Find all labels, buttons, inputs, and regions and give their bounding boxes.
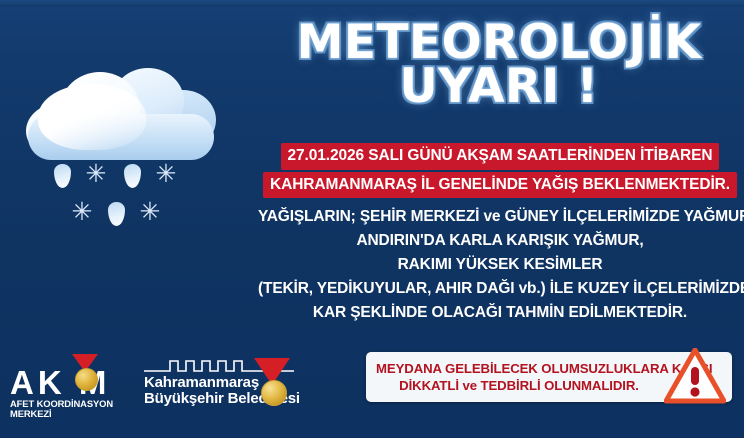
meteorological-warning-poster: ✳ ✳ ✳ ✳ METEOROLOJİK UYARI ! 27.01.2026 …	[0, 0, 744, 438]
caution-banner: MEYDANA GELEBİLECEK OLUMSUZLUKLARA KARŞI…	[366, 352, 732, 402]
precipitation-group: ✳ ✳ ✳ ✳	[46, 162, 226, 244]
snowflake-icon: ✳	[84, 162, 108, 186]
cloud-icon	[26, 68, 216, 160]
municipality-logo: Kahramanmaraş Büyükşehir Belediyesi	[144, 352, 304, 416]
alert-highlight-line2: KAHRAMANMARAŞ İL GENELİNDE YAĞIŞ BEKLENM…	[263, 172, 737, 199]
municipality-emblem-icon	[254, 358, 290, 410]
forecast-line: ANDIRIN'DA KARLA KARIŞIK YAĞMUR,	[258, 229, 742, 253]
alert-highlight-row: 27.01.2026 SALI GÜNÜ AKŞAM SAATLERİNDEN …	[262, 143, 738, 170]
weather-illustration: ✳ ✳ ✳ ✳	[18, 62, 264, 246]
forecast-line: (TEKİR, YEDİKUYULAR, AHIR DAĞI vb.) İLE …	[258, 277, 742, 301]
caution-line: DİKKATLİ ve TEDBİRLİ OLUNMALIDIR.	[376, 377, 662, 394]
raindrop-icon	[108, 202, 125, 226]
akom-logo: AK M AFET KOORDİNASYON MERKEZİ	[10, 352, 134, 414]
caution-banner-text: MEYDANA GELEBİLECEK OLUMSUZLUKLARA KARŞI…	[376, 360, 662, 394]
akom-emblem-icon	[72, 354, 98, 398]
gold-medal-icon	[75, 368, 98, 391]
cloud-highlight	[38, 84, 146, 150]
raindrop-icon	[124, 164, 141, 188]
municipality-name-line1: Kahramanmaraş	[144, 375, 259, 391]
forecast-line: YAĞIŞLARIN; ŞEHİR MERKEZİ ve GÜNEY İLÇEL…	[258, 205, 742, 229]
forecast-body-text: YAĞIŞLARIN; ŞEHİR MERKEZİ ve GÜNEY İLÇEL…	[258, 205, 742, 325]
poster-title: METEOROLOJİK UYARI !	[262, 21, 736, 109]
akom-subtitle: AFET KOORDİNASYON MERKEZİ	[10, 399, 134, 419]
forecast-line: RAKIMI YÜKSEK KESİMLER	[258, 253, 742, 277]
raindrop-icon	[54, 164, 71, 188]
top-edge-sheen	[0, 0, 744, 7]
alert-highlight-row: KAHRAMANMARAŞ İL GENELİNDE YAĞIŞ BEKLENM…	[262, 172, 738, 199]
snowflake-icon: ✳	[70, 200, 94, 224]
gold-medal-icon	[261, 380, 287, 406]
alert-highlight-line1: 27.01.2026 SALI GÜNÜ AKŞAM SAATLERİNDEN …	[281, 143, 720, 170]
caution-line: MEYDANA GELEBİLECEK OLUMSUZLUKLARA KARŞI	[376, 360, 662, 377]
forecast-line: KAR ŞEKLİNDE OLACAĞI TAHMİN EDİLMEKTEDİR…	[258, 301, 742, 325]
alert-highlight-block: 27.01.2026 SALI GÜNÜ AKŞAM SAATLERİNDEN …	[262, 143, 738, 200]
snowflake-icon: ✳	[154, 162, 178, 186]
poster-title-line2: UYARI !	[262, 65, 736, 109]
snowflake-icon: ✳	[138, 200, 162, 224]
warning-triangle-icon	[664, 348, 726, 404]
